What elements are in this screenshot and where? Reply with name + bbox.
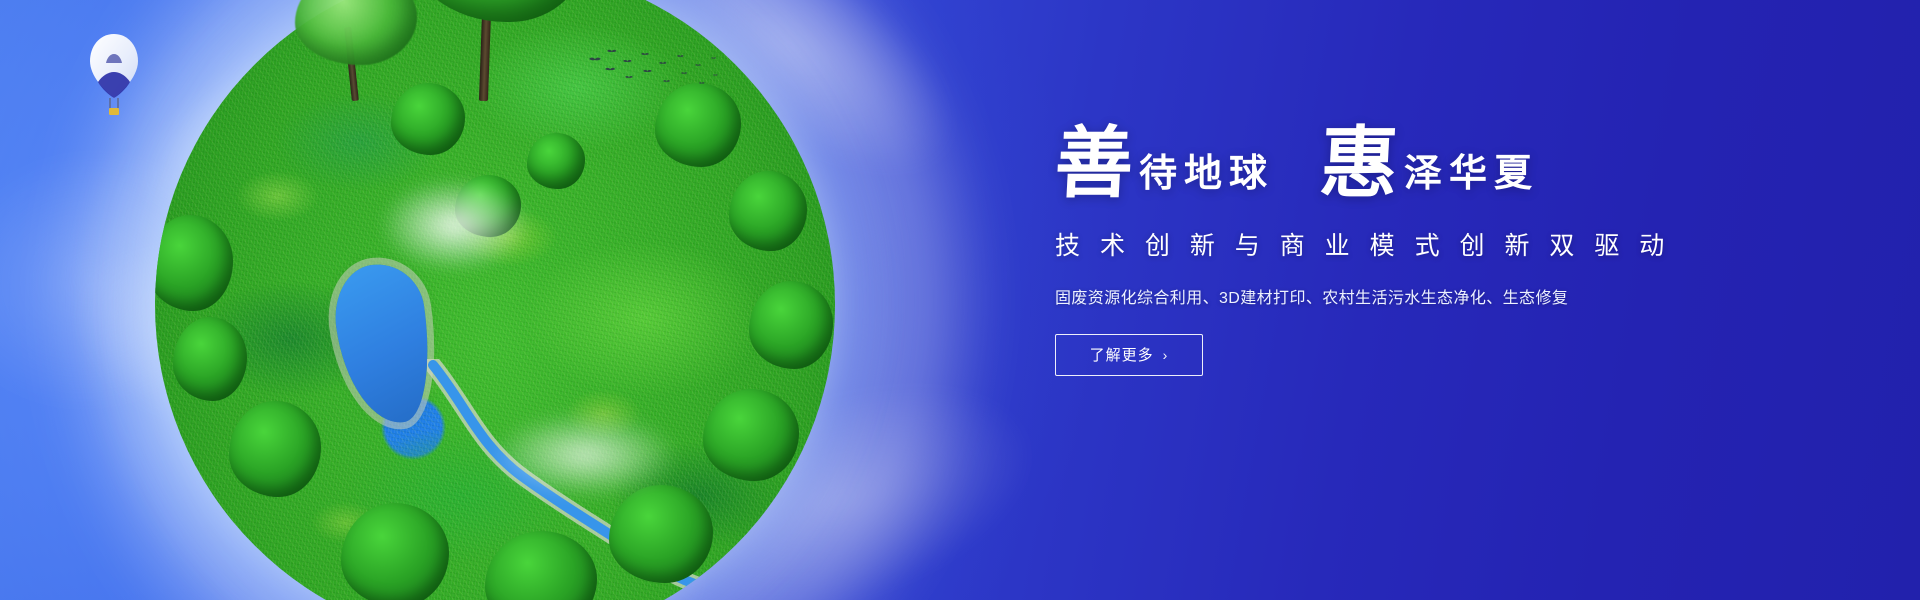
- tree-clump-icon: [655, 83, 741, 167]
- chevron-right-icon: ›: [1163, 348, 1169, 362]
- headline-part1-large: 善: [1053, 128, 1135, 200]
- hero-description: 固废资源化综合利用、3D建材打印、农村生活污水生态净化、生态修复: [1055, 284, 1755, 308]
- flock-of-birds-icon: [585, 45, 725, 95]
- tree-clump-icon: [173, 317, 247, 401]
- headline-part2-large: 惠: [1318, 128, 1400, 200]
- tree-clump-icon: [229, 401, 321, 497]
- tree-clump-icon: [391, 83, 465, 155]
- hero-subtitle: 技 术 创 新 与 商 业 模 式 创 新 双 驱 动: [1055, 226, 1755, 262]
- hero-copy: 善 待地球 惠 泽华夏 技 术 创 新 与 商 业 模 式 创 新 双 驱 动 …: [1055, 128, 1755, 376]
- tree-clump-icon: [527, 133, 585, 189]
- tree-clump-icon: [703, 389, 799, 481]
- planet-illustration: [155, 0, 835, 600]
- headline-part2-small: 泽华夏: [1404, 154, 1539, 200]
- tree-clump-icon: [729, 171, 807, 251]
- hot-air-balloon-icon: [86, 32, 142, 124]
- headline-part1-small: 待地球: [1139, 154, 1274, 200]
- page-title: 善 待地球 惠 泽华夏: [1055, 128, 1755, 200]
- hero-banner: 善 待地球 惠 泽华夏 技 术 创 新 与 商 业 模 式 创 新 双 驱 动 …: [0, 0, 1920, 600]
- planet-globe-icon: [155, 0, 835, 600]
- learn-more-label: 了解更多: [1090, 344, 1154, 365]
- mist-icon: [350, 160, 560, 290]
- tree-clump-icon: [749, 281, 833, 369]
- learn-more-button[interactable]: 了解更多 ›: [1055, 334, 1203, 376]
- mist-icon: [455, 395, 715, 515]
